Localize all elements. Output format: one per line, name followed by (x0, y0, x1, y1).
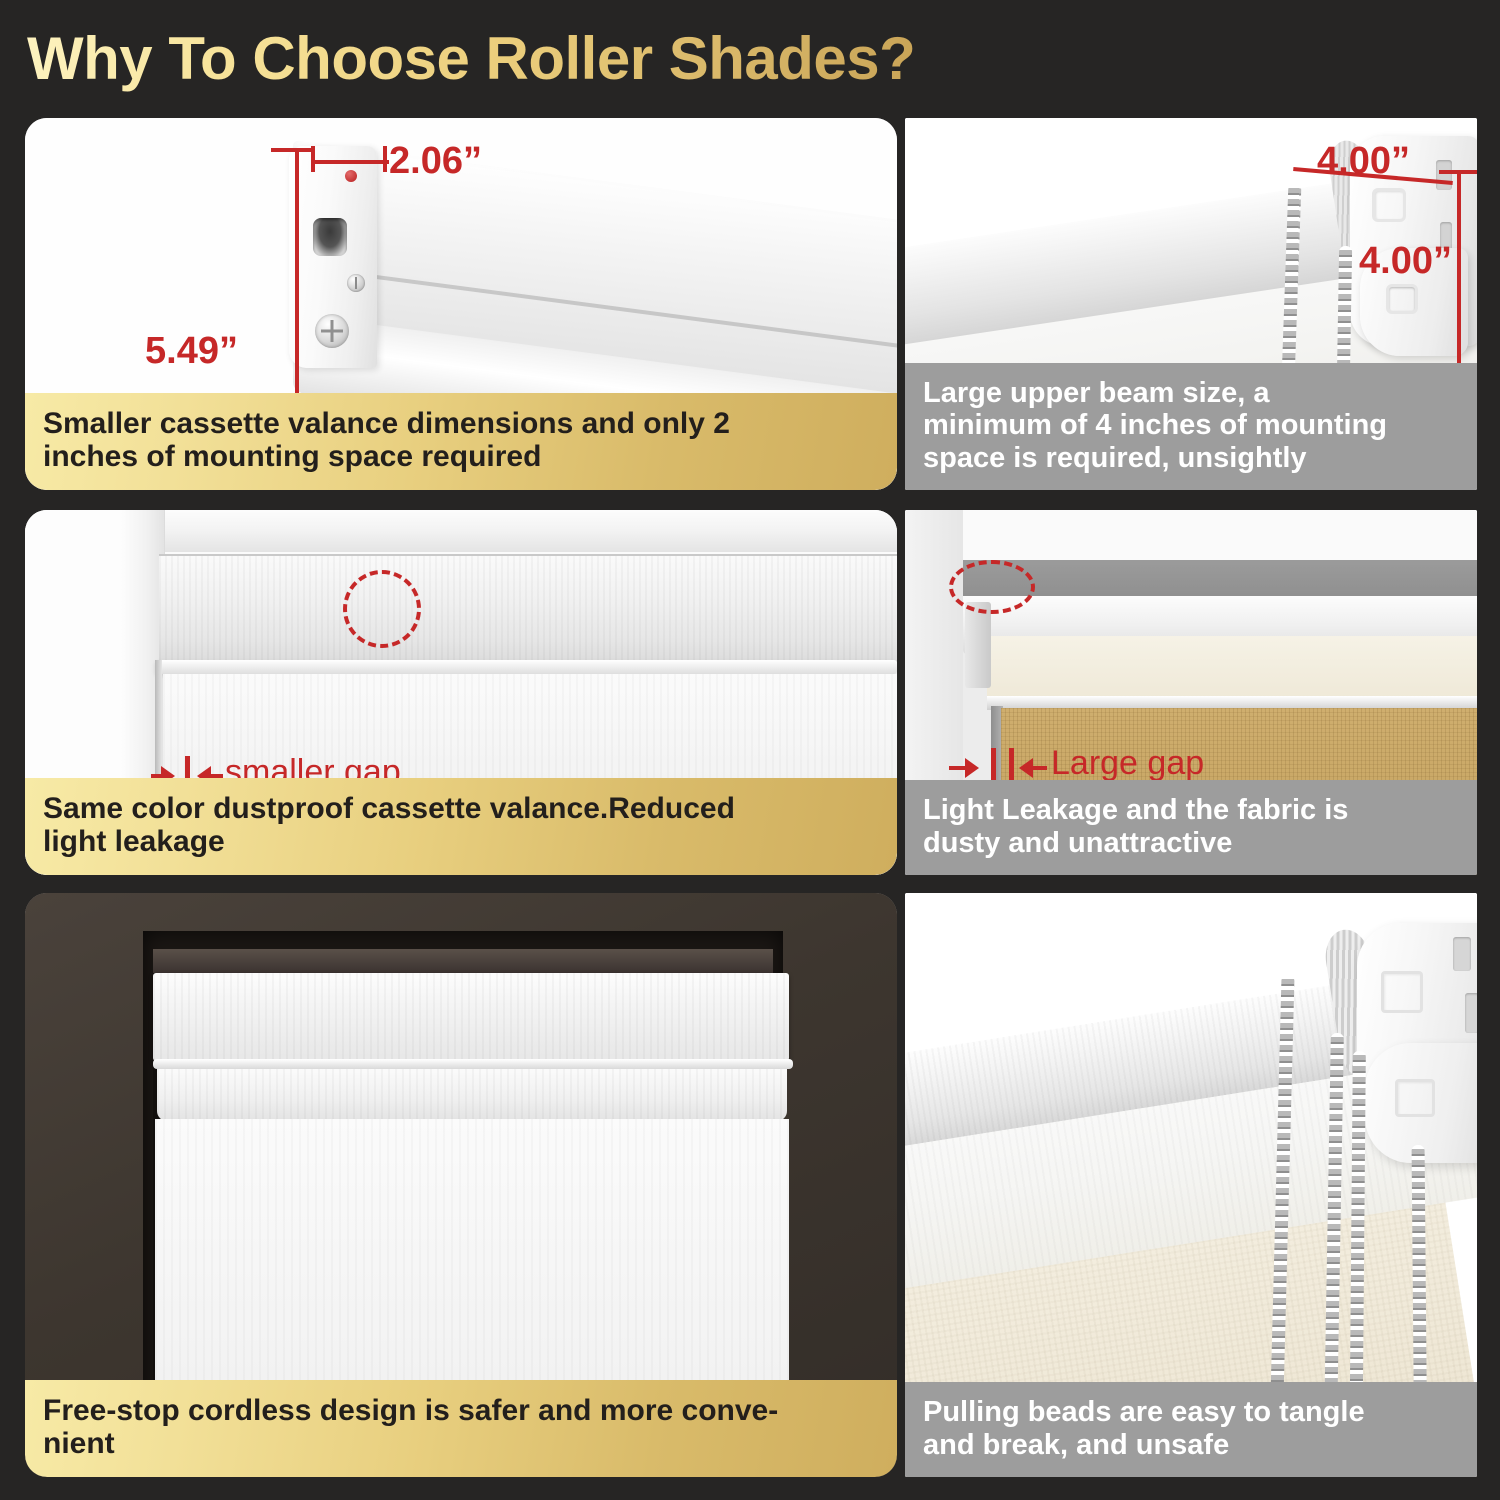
arrow-left-icon (1019, 758, 1033, 778)
panel-pro-cassette-dimensions: 2.06” 5.49” Smaller cassette valance dim… (25, 118, 897, 490)
cream-fabric-layer (987, 636, 1477, 698)
caption-line: nient (43, 1427, 879, 1461)
page-title-text: Why To Choose Roller Shades? (27, 24, 915, 93)
dim-line-width (311, 160, 389, 164)
dim-tick-width-right (383, 146, 387, 172)
caption-line: Light Leakage and the fabric is (923, 794, 1459, 826)
cassette-end-cap (289, 146, 377, 368)
arrow-right-icon (965, 758, 979, 778)
dim-label-height: 5.49” (145, 330, 238, 373)
caption-line: light leakage (43, 825, 879, 859)
valance-lip (155, 660, 897, 674)
caption-line: inches of mounting space required (43, 440, 879, 474)
caption-con-pulling-beads: Pulling beads are easy to tangle and bre… (905, 1382, 1477, 1477)
panel-con-large-gap: Large gap Light Leakage and the fabric i… (905, 510, 1477, 875)
caption-line: Free-stop cordless design is safer and m… (43, 1394, 879, 1428)
page-title: Why To Choose Roller Shades? (27, 22, 1477, 94)
caption-pro-free-stop-cordless: Free-stop cordless design is safer and m… (25, 1380, 897, 1477)
caption-pro-cassette-dimensions: Smaller cassette valance dimensions and … (25, 393, 897, 490)
caption-line: Same color dustproof cassette valance.Re… (43, 792, 879, 826)
cassette-valance (153, 973, 789, 1061)
highlight-circle-icon (949, 560, 1035, 614)
valance-lip (153, 1059, 793, 1069)
window-frame-head (121, 510, 897, 552)
caption-line: Large upper beam size, a (923, 377, 1459, 409)
mounting-bracket (965, 602, 991, 688)
caption-line: minimum of 4 inches of mounting (923, 409, 1459, 441)
caption-line: Smaller cassette valance dimensions and … (43, 407, 879, 441)
gap-arrow-right-shaft (1033, 766, 1047, 770)
panel-pro-free-stop-cordless: Free-stop cordless design is safer and m… (25, 893, 897, 1477)
caption-line: dusty and unattractive (923, 827, 1459, 859)
panel-con-pulling-beads: Pulling beads are easy to tangle and bre… (905, 893, 1477, 1477)
highlight-circle-icon (343, 570, 421, 648)
cord-slot (313, 218, 347, 256)
panel-con-large-upper-beam: 4.00” 4.00” Large upper beam size, a min… (905, 118, 1477, 490)
dim-label-width: 4.00” (1317, 140, 1410, 183)
red-pin-marker (345, 170, 357, 182)
dim-label-height: 4.00” (1359, 240, 1452, 283)
caption-con-large-gap: Light Leakage and the fabric is dusty an… (905, 780, 1477, 875)
adjustment-screw (315, 314, 349, 348)
caption-line: and break, and unsafe (923, 1429, 1459, 1461)
caption-pro-smaller-gap: Same color dustproof cassette valance.Re… (25, 778, 897, 875)
cassette-valance (159, 554, 897, 662)
gap-label: Large gap (1051, 744, 1204, 783)
dim-tick-height-top (1439, 170, 1477, 174)
dim-label-width: 2.06” (389, 140, 482, 183)
caption-line: space is required, unsightly (923, 442, 1459, 474)
panel-pro-smaller-gap: smaller gap Same color dustproof cassett… (25, 510, 897, 875)
caption-con-large-upper-beam: Large upper beam size, a minimum of 4 in… (905, 363, 1477, 490)
caption-line: Pulling beads are easy to tangle (923, 1396, 1459, 1428)
roller-tube (157, 1069, 787, 1121)
dim-tick-height-top (271, 148, 315, 152)
dim-line-height (1457, 170, 1461, 370)
mounting-screw (347, 274, 365, 292)
